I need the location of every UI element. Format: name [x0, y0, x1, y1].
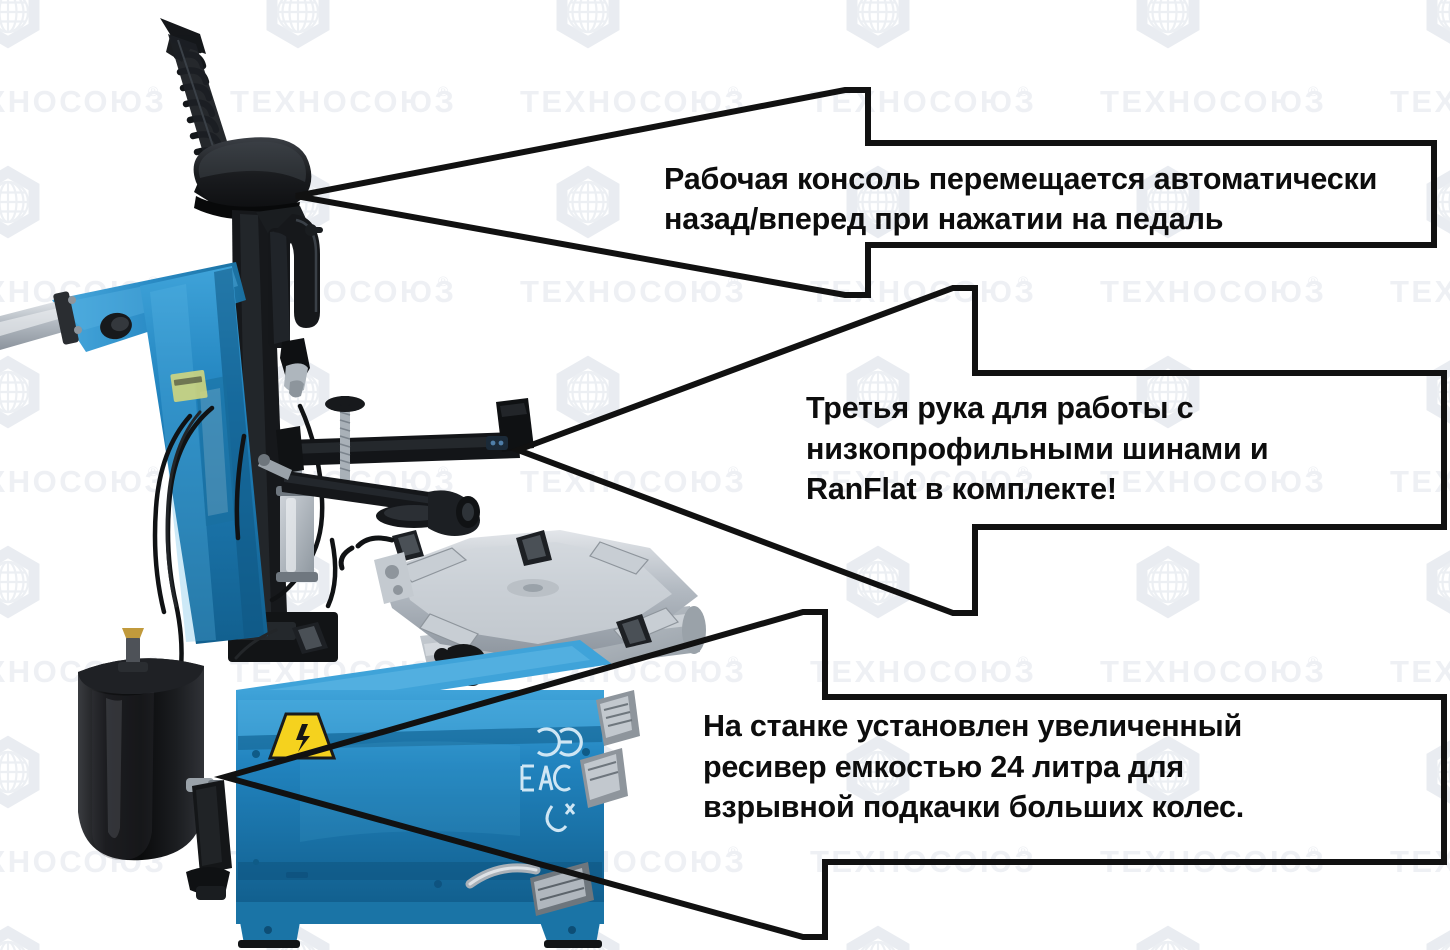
screenshot-stage: ТЕХНОСОЮЗ ®	[0, 0, 1450, 950]
callout-receiver-text: На станке установлен увеличенный ресивер…	[703, 706, 1363, 828]
callout-third-hand-text: Третья рука для работы с низкопрофильным…	[806, 388, 1446, 510]
callout-console-text: Рабочая консоль перемещается автоматичес…	[664, 160, 1434, 239]
